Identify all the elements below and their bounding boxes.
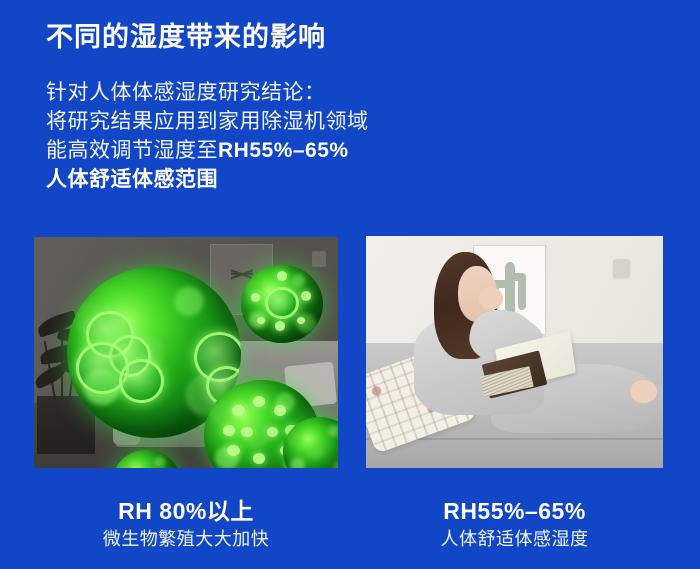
microbe-spike — [241, 427, 253, 437]
woman-foot — [630, 380, 657, 403]
body-line-3: 能高效调节湿度至RH55%–65% — [46, 136, 476, 165]
microbe-texture — [113, 450, 180, 468]
bright-room-scene — [366, 236, 663, 468]
dark-room-scene — [34, 237, 338, 468]
body-line-3-prefix: 能高效调节湿度至 — [46, 139, 218, 162]
microbe-spike — [232, 405, 245, 416]
microbe-spike — [223, 425, 236, 436]
woman-hand — [479, 287, 503, 310]
body-line-4: 人体舒适体感范围 — [46, 165, 476, 194]
body-line-2: 将研究结果应用到家用除湿机领域 — [46, 107, 476, 136]
photo-comfort-humidity — [366, 236, 663, 468]
microbe-spike — [267, 427, 279, 437]
microbe-spike — [227, 445, 240, 456]
microbe-sphere-edge — [283, 417, 338, 468]
microbe-cell — [119, 359, 163, 403]
caption-high-humidity: RH 80%以上 微生物繁殖大大加快 — [34, 497, 338, 553]
microbe-spike — [297, 317, 305, 325]
microbe-spike — [275, 321, 285, 330]
microbe-spike — [253, 396, 266, 407]
body-line-1: 针对人体体感湿度研究结论： — [46, 78, 476, 107]
cactus-icon — [510, 273, 526, 281]
page-title: 不同的湿度带来的影响 — [46, 19, 326, 55]
microbe-texture — [283, 417, 338, 468]
photo-high-humidity — [34, 237, 338, 468]
caption-subtitle: 人体舒适体感湿度 — [366, 526, 663, 553]
body-paragraph: 针对人体体感湿度研究结论： 将研究结果应用到家用除湿机领域 能高效调节湿度至RH… — [46, 78, 476, 194]
microbe-sphere-small-top — [241, 265, 323, 344]
slide-root: 不同的湿度带来的影响 针对人体体感湿度研究结论： 将研究结果应用到家用除湿机领域… — [0, 0, 700, 569]
microbe-sphere-lower — [113, 450, 180, 468]
humidity-range-highlight: RH55%–65% — [218, 139, 349, 162]
microbe-spike — [274, 405, 287, 416]
caption-title: RH 80%以上 — [34, 497, 338, 526]
wall-switch-icon — [613, 259, 630, 278]
caption-subtitle: 微生物繁殖大大加快 — [34, 526, 338, 553]
caption-title: RH55%–65% — [366, 497, 663, 526]
caption-comfort-humidity: RH55%–65% 人体舒适体感湿度 — [366, 497, 663, 553]
